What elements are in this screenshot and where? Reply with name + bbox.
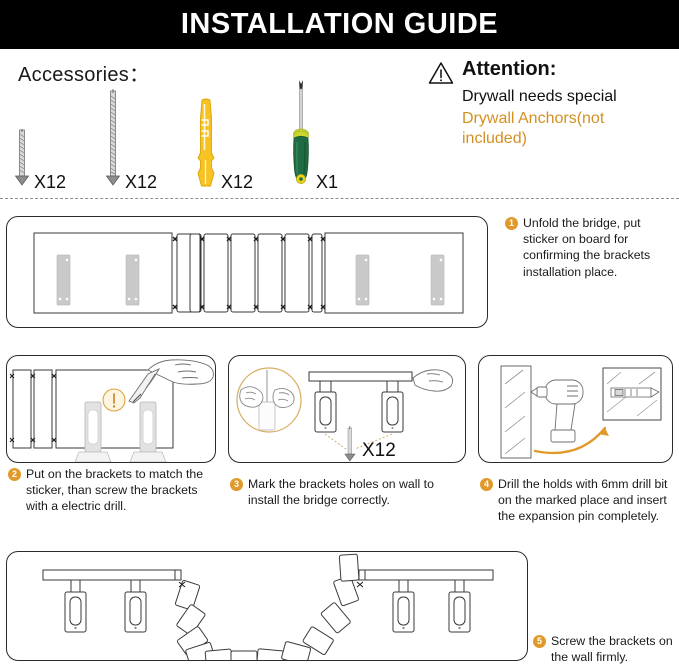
accessory-item-short-screw: X12 <box>12 128 66 193</box>
attention-block: Attention: Drywall needs special Drywall… <box>428 58 673 149</box>
short-screw-icon <box>12 128 32 193</box>
accessories-heading: Accessories： <box>18 58 149 87</box>
diagram-panel-step-4 <box>478 355 673 463</box>
step-text-1: Unfold the bridge, put sticker on board … <box>523 215 675 280</box>
installation-guide-page: INSTALLATION GUIDE Accessories： X12 <box>0 0 679 669</box>
step-caption-4: 4 Drill the holds with 6mm drill bit on … <box>480 476 675 525</box>
accessory-item-screwdriver: X1 <box>288 78 338 193</box>
long-screw-qty: X12 <box>125 173 157 193</box>
step-caption-1: 1 Unfold the bridge, put sticker on boar… <box>505 215 675 280</box>
unfolded-bridge-diagram <box>7 217 488 328</box>
step-badge-5: 5 <box>533 635 546 648</box>
section-divider <box>0 198 679 199</box>
warning-triangle-icon <box>428 61 454 85</box>
accessory-item-wall-anchor: X12 <box>193 98 253 193</box>
attention-title: Attention: <box>462 58 556 80</box>
accessories-list: X12 X12 <box>8 88 368 193</box>
step-badge-1: 1 <box>505 217 518 230</box>
step-badge-3: 3 <box>230 478 243 491</box>
step-text-5: Screw the brackets on the wall firmly. <box>551 633 678 665</box>
attention-line-2: Drywall Anchors(not included) <box>462 109 673 149</box>
step-text-3: Mark the brackets holes on wall to insta… <box>248 476 462 508</box>
panel3-screw-qty: X12 <box>362 440 396 461</box>
wall-anchor-icon <box>193 98 219 193</box>
screwdriver-icon <box>288 78 314 193</box>
step-text-4: Drill the holds with 6mm drill bit on th… <box>498 476 675 525</box>
wall-anchor-qty: X12 <box>221 173 253 193</box>
attention-header: Attention: <box>428 58 673 85</box>
step-caption-2: 2 Put on the brackets to match the stick… <box>8 466 213 515</box>
short-screw-qty: X12 <box>34 173 66 193</box>
step-text-2: Put on the brackets to match the sticker… <box>26 466 213 515</box>
diagram-panel-step-5 <box>6 551 528 661</box>
page-title: INSTALLATION GUIDE <box>181 10 498 39</box>
installed-bridge-diagram <box>7 552 528 661</box>
diagram-panel-step-2 <box>6 355 216 463</box>
diagram-panel-step-1 <box>6 216 488 328</box>
accessory-item-long-screw: X12 <box>103 88 157 193</box>
diagram-panel-step-3: X12 <box>228 355 466 463</box>
step-caption-5: 5 Screw the brackets on the wall firmly. <box>533 633 678 665</box>
mark-holes-diagram: X12 <box>229 356 466 463</box>
long-screw-icon <box>103 88 123 193</box>
step-badge-4: 4 <box>480 478 493 491</box>
step-badge-2: 2 <box>8 468 21 481</box>
screwdriver-qty: X1 <box>316 173 338 193</box>
drill-wall-diagram <box>479 356 673 463</box>
page-header: INSTALLATION GUIDE <box>0 0 679 49</box>
step-caption-3: 3 Mark the brackets holes on wall to ins… <box>230 476 462 508</box>
attention-line-1: Drywall needs special <box>462 87 673 107</box>
bracket-drill-diagram <box>7 356 216 463</box>
